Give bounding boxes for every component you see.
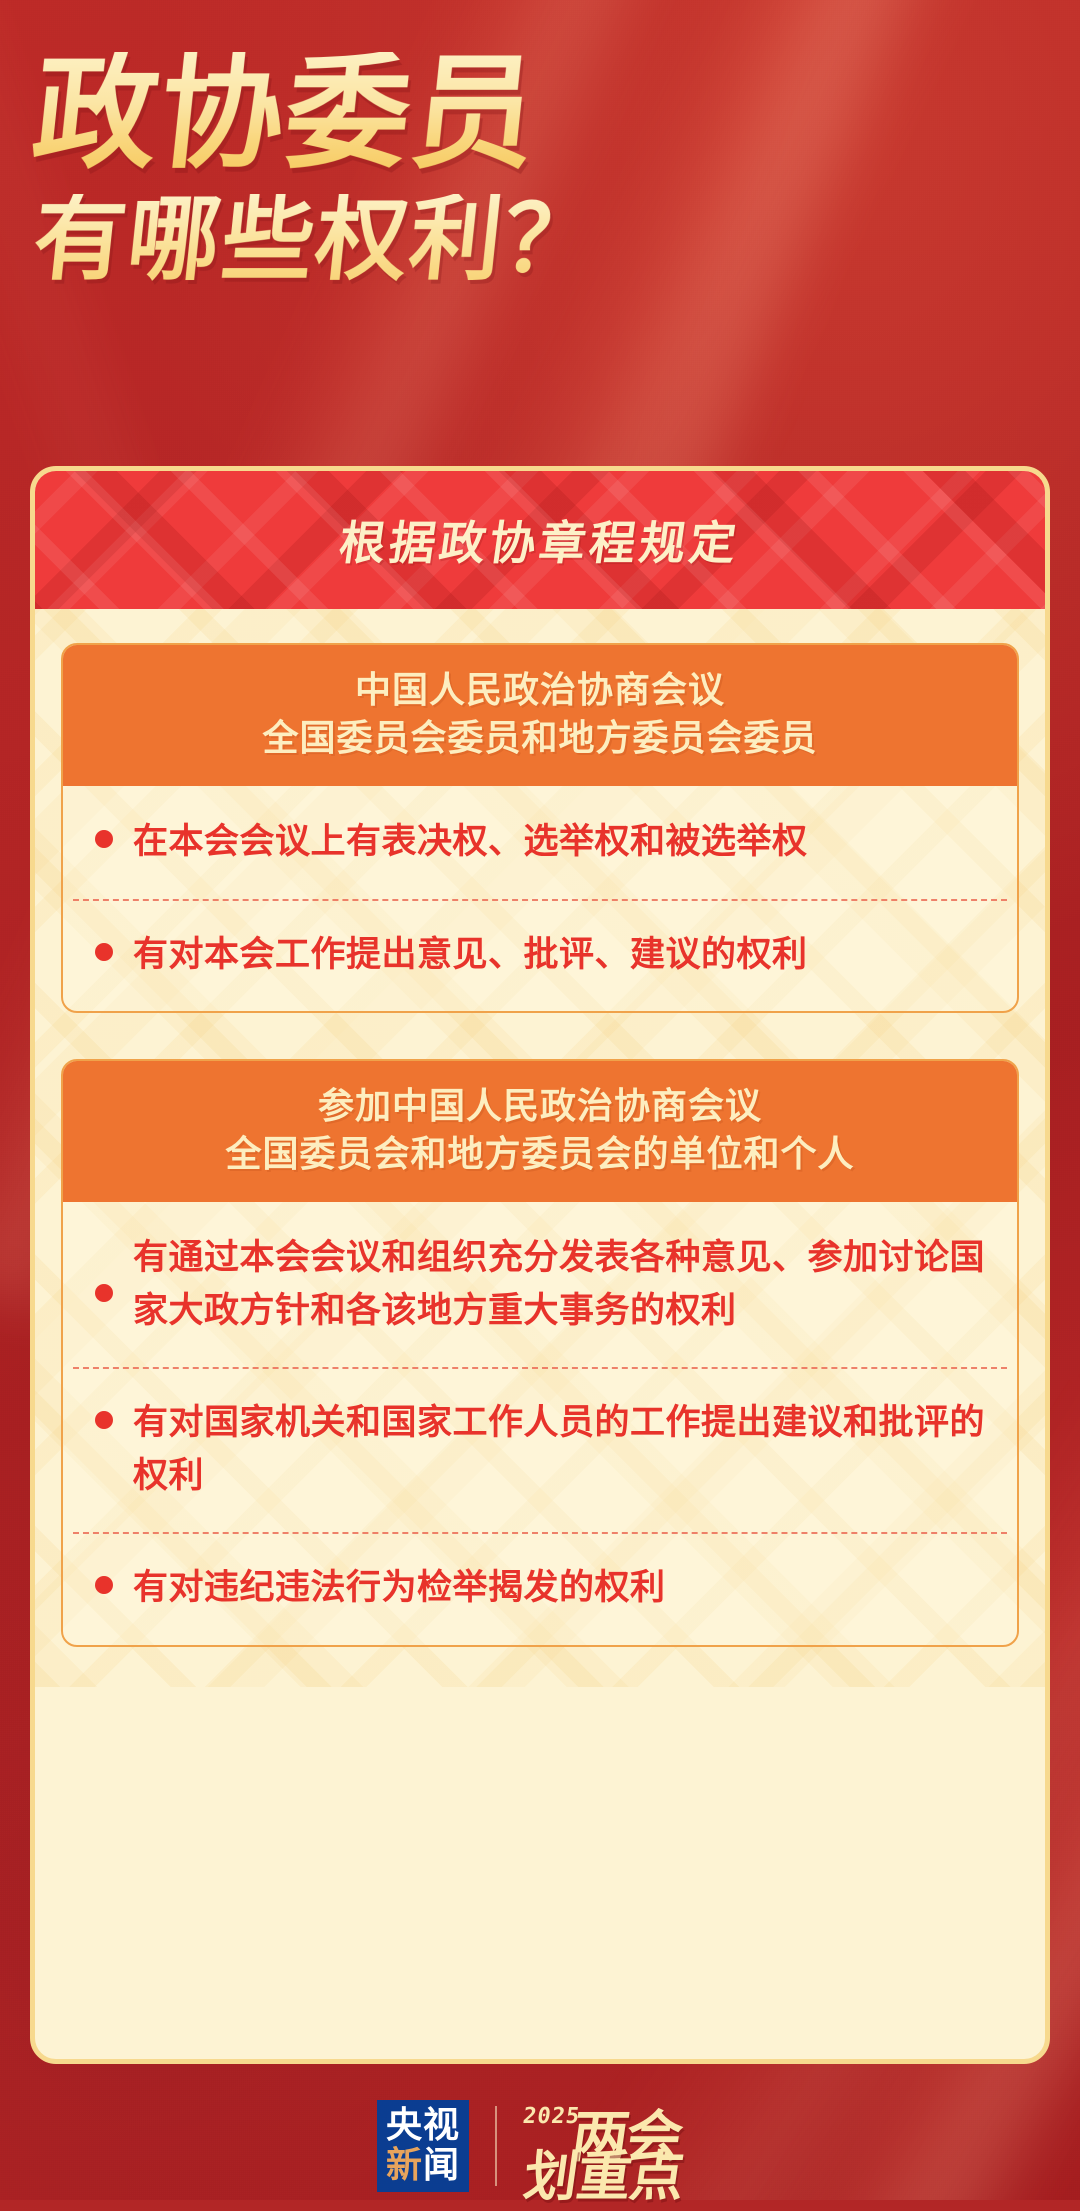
cctv-logo-line-1: 央视 <box>386 2108 460 2144</box>
bullet-dot-icon <box>95 1284 113 1302</box>
cctv-logo-char-wen: 闻 <box>423 2148 460 2184</box>
rights-card-1-items: 在本会会议上有表决权、选举权和被选举权 有对本会工作提出意见、批评、建议的权利 <box>63 786 1017 1011</box>
list-item-text: 有对本会工作提出意见、批评、建议的权利 <box>133 929 808 982</box>
panel-header: 根据政协章程规定 <box>35 471 1045 609</box>
list-item: 有对本会工作提出意见、批评、建议的权利 <box>63 899 1017 1012</box>
list-item-text: 有对国家机关和国家工作人员的工作提出建议和批评的权利 <box>133 1397 991 1502</box>
panel-header-title: 根据政协章程规定 <box>335 507 744 573</box>
list-item-text: 在本会会议上有表决权、选举权和被选举权 <box>133 816 808 869</box>
logo-year: 2025 <box>521 2104 581 2129</box>
card-2-header-line-2: 全国委员会和地方委员会的单位和个人 <box>87 1131 993 1179</box>
list-item: 在本会会议上有表决权、选举权和被选举权 <box>63 786 1017 899</box>
rights-card-1-header: 中国人民政治协商会议 全国委员会委员和地方委员会委员 <box>63 645 1017 786</box>
panel-body: 中国人民政治协商会议 全国委员会委员和地方委员会委员 在本会会议上有表决权、选举… <box>35 609 1045 1687</box>
bullet-dot-icon <box>95 830 113 848</box>
bullet-dot-icon <box>95 1576 113 1594</box>
rights-card-2: 参加中国人民政治协商会议 全国委员会和地方委员会的单位和个人 有通过本会会议和组… <box>61 1059 1019 1647</box>
list-item: 有对国家机关和国家工作人员的工作提出建议和批评的权利 <box>63 1367 1017 1532</box>
list-item-text: 有通过本会会议和组织充分发表各种意见、参加讨论国家大政方针和各该地方重大事务的权… <box>133 1232 991 1337</box>
bullet-dot-icon <box>95 1411 113 1429</box>
content-panel: 根据政协章程规定 中国人民政治协商会议 全国委员会委员和地方委员会委员 在本会会… <box>30 466 1050 2064</box>
list-item-text: 有对违纪违法行为检举揭发的权利 <box>133 1562 666 1615</box>
bullet-dot-icon <box>95 943 113 961</box>
footer-divider <box>495 2106 497 2186</box>
footer-branding: 央视 新 闻 2025 两会 划重点 <box>0 2098 1080 2194</box>
rights-card-1: 中国人民政治协商会议 全国委员会委员和地方委员会委员 在本会会议上有表决权、选举… <box>61 643 1019 1013</box>
list-item: 有通过本会会议和组织充分发表各种意见、参加讨论国家大政方针和各该地方重大事务的权… <box>63 1202 1017 1367</box>
card-1-header-line-2: 全国委员会委员和地方委员会委员 <box>87 715 993 763</box>
cctv-logo-char-xin: 新 <box>386 2148 423 2184</box>
logo-huazhongdian: 划重点 <box>519 2132 689 2211</box>
cctv-news-logo: 央视 新 闻 <box>377 2100 469 2192</box>
card-2-header-line-1: 参加中国人民政治协商会议 <box>87 1083 993 1131</box>
headline-line-2: 有哪些权利？ <box>29 194 1051 286</box>
rights-card-2-items: 有通过本会会议和组织充分发表各种意见、参加讨论国家大政方针和各该地方重大事务的权… <box>63 1202 1017 1645</box>
rights-card-2-header: 参加中国人民政治协商会议 全国委员会和地方委员会的单位和个人 <box>63 1061 1017 1202</box>
poster-headline: 政协委员 有哪些权利？ <box>34 52 1046 286</box>
headline-line-1: 政协委员 <box>27 52 1052 176</box>
cctv-logo-line-2: 新 闻 <box>386 2148 460 2184</box>
lianghua-zhongdian-logo: 2025 两会 划重点 <box>523 2098 703 2194</box>
list-item: 有对违纪违法行为检举揭发的权利 <box>63 1532 1017 1645</box>
card-1-header-line-1: 中国人民政治协商会议 <box>87 667 993 715</box>
